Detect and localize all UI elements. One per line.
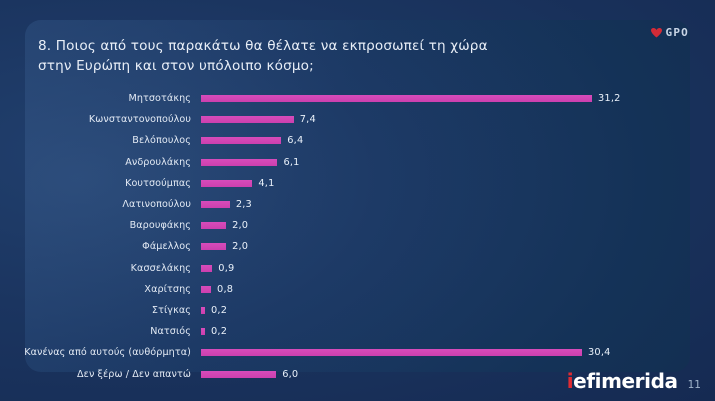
chart-row-label: Βαρουφάκης (0, 220, 196, 231)
chart-bar-value: 6,0 (282, 369, 298, 380)
chart-row: Κωνσταντονοπούλου7,4 (0, 109, 665, 130)
chart-row: Βαρουφάκης2,0 (0, 215, 665, 236)
chart-bar (201, 222, 226, 229)
bar-chart: Μητσοτάκης31,2Κωνσταντονοπούλου7,4Βελόπο… (0, 88, 665, 385)
gpo-logo-text: GPO (666, 26, 689, 39)
iefimerida-logo: iefimerida (567, 369, 678, 393)
chart-row-label: Κασσελάκης (0, 263, 196, 274)
chart-row: Μητσοτάκης31,2 (0, 88, 665, 109)
chart-bar (201, 286, 211, 293)
chart-bar-value: 0,2 (211, 305, 227, 316)
chart-row: Βελόπουλος6,4 (0, 130, 665, 151)
slide-root: GPO 8. Ποιος από τους παρακάτω θα θέλατε… (0, 0, 715, 401)
chart-row: Στίγκας0,2 (0, 300, 665, 321)
chart-bar (201, 116, 294, 123)
chart-bar-area: 30,4 (201, 342, 665, 363)
chart-bar-value: 4,1 (258, 178, 274, 189)
chart-bar-area: 31,2 (201, 88, 665, 109)
chart-row-label: Βελόπουλος (0, 135, 196, 146)
chart-bar-area: 0,2 (201, 321, 665, 342)
chart-bar-value: 7,4 (300, 114, 316, 125)
chart-row-label: Χαρίτσης (0, 284, 196, 295)
chart-bar-value: 2,0 (232, 241, 248, 252)
chart-bar-value: 31,2 (598, 93, 621, 104)
chart-row-label: Κωνσταντονοπούλου (0, 114, 196, 125)
heart-icon (651, 28, 662, 38)
chart-row-label: Μητσοτάκης (0, 93, 196, 104)
iefimerida-logo-rest: efimerida (573, 369, 677, 393)
chart-bar-value: 30,4 (588, 347, 611, 358)
page-number: 11 (688, 379, 701, 391)
chart-bar (201, 180, 252, 187)
chart-row-label: Κανένας από αυτούς (αυθόρμητα) (0, 347, 196, 358)
chart-bar (201, 307, 205, 314)
chart-bar (201, 265, 212, 272)
chart-bar-area: 6,1 (201, 152, 665, 173)
chart-bar-value: 6,4 (287, 135, 303, 146)
chart-bar (201, 349, 582, 356)
chart-row-label: Στίγκας (0, 305, 196, 316)
chart-row: Κουτσούμπας4,1 (0, 173, 665, 194)
chart-bar-area: 2,0 (201, 215, 665, 236)
chart-row-label: Φάμελλος (0, 241, 196, 252)
chart-bar (201, 243, 226, 250)
chart-bar-area: 6,4 (201, 130, 665, 151)
chart-row: Χαρίτσης0,8 (0, 279, 665, 300)
chart-bar-area: 4,1 (201, 173, 665, 194)
chart-row: Λατινοπούλου2,3 (0, 194, 665, 215)
chart-row: Νατσιός0,2 (0, 321, 665, 342)
chart-bar (201, 201, 230, 208)
chart-bar-value: 0,9 (218, 263, 234, 274)
chart-bar-area: 7,4 (201, 109, 665, 130)
page-title: 8. Ποιος από τους παρακάτω θα θέλατε να … (38, 36, 598, 76)
chart-row-label: Ανδρουλάκης (0, 157, 196, 168)
chart-row: Δεν ξέρω / Δεν απαντώ6,0 (0, 363, 665, 384)
chart-bar (201, 95, 592, 102)
chart-bar-area: 0,8 (201, 279, 665, 300)
chart-row: Ανδρουλάκης6,1 (0, 152, 665, 173)
chart-row-label: Λατινοπούλου (0, 199, 196, 210)
chart-row: Κασσελάκης0,9 (0, 258, 665, 279)
chart-bar-value: 2,0 (232, 220, 248, 231)
chart-row-label: Κουτσούμπας (0, 178, 196, 189)
chart-bar-area: 2,0 (201, 236, 665, 257)
gpo-logo: GPO (651, 26, 689, 39)
chart-bar (201, 137, 281, 144)
chart-bar-value: 0,2 (211, 326, 227, 337)
page-title-line-1: 8. Ποιος από τους παρακάτω θα θέλατε να … (38, 36, 598, 56)
chart-row-label: Νατσιός (0, 326, 196, 337)
chart-bar-value: 0,8 (217, 284, 233, 295)
chart-bar-area: 2,3 (201, 194, 665, 215)
chart-bar (201, 159, 277, 166)
chart-row: Φάμελλος2,0 (0, 236, 665, 257)
chart-bar-value: 6,1 (283, 157, 299, 168)
footer: iefimerida 11 (567, 369, 701, 393)
chart-bar-area: 0,2 (201, 300, 665, 321)
chart-bar (201, 371, 276, 378)
chart-row: Κανένας από αυτούς (αυθόρμητα)30,4 (0, 342, 665, 363)
chart-bar-value: 2,3 (236, 199, 252, 210)
page-title-line-2: στην Ευρώπη και στον υπόλοιπο κόσμο; (38, 56, 598, 76)
chart-row-label: Δεν ξέρω / Δεν απαντώ (0, 369, 196, 380)
chart-bar (201, 328, 205, 335)
chart-bar-area: 0,9 (201, 258, 665, 279)
